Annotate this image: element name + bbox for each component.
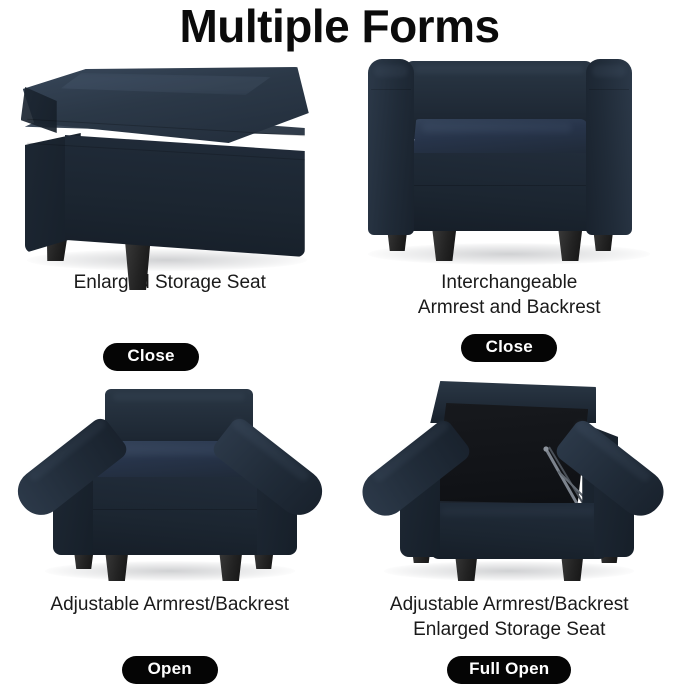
status-badge-open: Open [122,656,218,684]
panel-caption: Adjustable Armrest/Backrest [50,592,289,617]
panel-caption: Interchangeable Armrest and Backrest [418,270,601,320]
page-title: Multiple Forms [0,0,679,51]
status-badge-close: Close [461,334,557,362]
panel-adjustable-armrest-backrest-storage: Adjustable Armrest/Backrest Enlarged Sto… [340,373,679,695]
panel-enlarged-storage-seat: Enlarged Storage Seat [0,51,340,373]
storage-ottoman-illustration [5,53,335,268]
badge-slot: Full Open [340,656,679,690]
badge-slot: Close [340,334,679,368]
badge-slot: Open [0,656,340,690]
panel-adjustable-armrest-backrest: Adjustable Armrest/Backrest Open [0,373,340,695]
status-badge-close-left: Close [103,343,199,371]
armchair-arms-open-illustration [5,375,335,590]
panel-caption: Enlarged Storage Seat [74,270,266,295]
armchair-closed-illustration [344,53,674,268]
armchair-full-open-storage-illustration [344,375,674,590]
forms-grid: Enlarged Storage Seat [0,51,679,675]
status-badge-full-open: Full Open [447,656,571,684]
panel-interchangeable-armrest-backrest: Interchangeable Armrest and Backrest Clo… [340,51,679,373]
panel-caption: Adjustable Armrest/Backrest Enlarged Sto… [390,592,629,642]
